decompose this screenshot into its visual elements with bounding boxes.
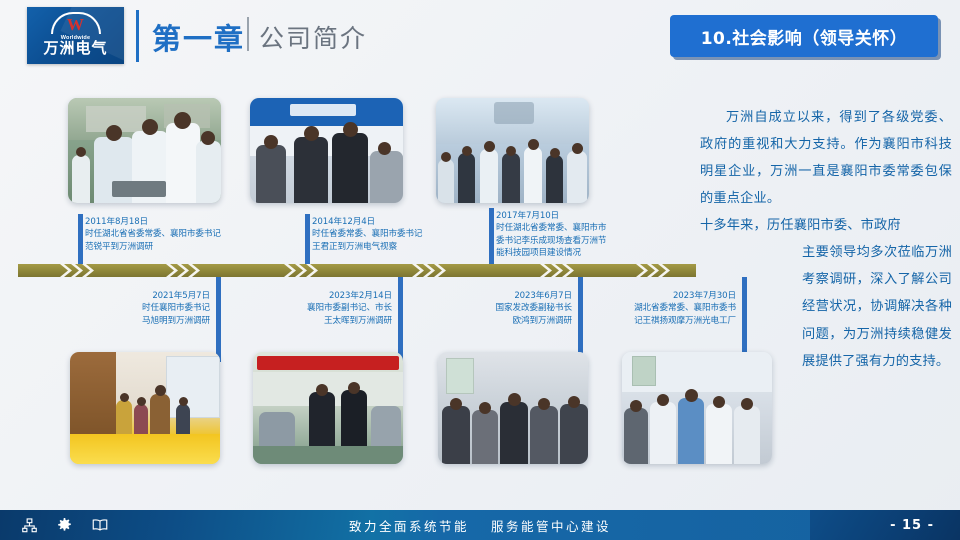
footer-slogan-right: 服务能管中心建设 xyxy=(491,516,611,535)
chapter-subtitle: 公司简介 xyxy=(259,19,367,55)
timeline-bar xyxy=(18,264,696,277)
footer-slogan: 致力全面系统节能 服务能管中心建设 xyxy=(0,510,960,540)
company-logo: Worldwide 万洲电气 xyxy=(27,7,124,64)
caption-line: 时任湖北省省委常委、襄阳市委书记 xyxy=(85,228,300,240)
caption-line: 马旭明到万洲调研 xyxy=(40,315,210,327)
topic-badge: 10.社会影响（领导关怀） xyxy=(670,15,938,57)
caption-line: 时任襄阳市委书记 xyxy=(40,302,210,314)
title-accent-bar xyxy=(136,10,139,62)
timeline-caption-bottom-1: 2021年5月7日 时任襄阳市委书记 马旭明到万洲调研 xyxy=(40,290,210,327)
chapter-separator xyxy=(247,17,249,51)
caption-date: 2023年6月7日 xyxy=(402,290,572,302)
chapter-title: 第一章 xyxy=(152,16,245,58)
slide: Worldwide 万洲电气 第一章 公司简介 10.社会影响（领导关怀） xyxy=(0,0,960,540)
caption-line: 范锐平到万洲调研 xyxy=(85,241,300,253)
photo-2021-inspection xyxy=(70,352,220,464)
caption-line: 委书记李乐成现场查看万洲节 xyxy=(496,235,668,247)
caption-date: 2014年12月4日 xyxy=(312,216,492,228)
photo-2011-inspection xyxy=(68,98,221,203)
caption-line: 国家发改委副秘书长 xyxy=(402,302,572,314)
logo-arc-icon xyxy=(51,12,101,34)
timeline-connector xyxy=(305,214,310,264)
slide-header: Worldwide 万洲电气 第一章 公司简介 10.社会影响（领导关怀） xyxy=(0,0,960,78)
timeline-caption-bottom-3: 2023年6月7日 国家发改委副秘书长 欧鸿到万洲调研 xyxy=(402,290,572,327)
footer-slogan-left: 致力全面系统节能 xyxy=(349,516,469,535)
paragraph-part-2: 十多年来，历任襄阳市委、市政府 xyxy=(700,218,901,233)
logo-chinese: 万洲电气 xyxy=(27,37,124,58)
caption-date: 2011年8月18日 xyxy=(85,216,300,228)
caption-line: 能科技园项目建设情况 xyxy=(496,247,668,259)
caption-line: 襄阳市委副书记、市长 xyxy=(222,302,392,314)
caption-line: 时任省委常委、襄阳市委书记 xyxy=(312,228,492,240)
caption-line: 王太晖到万洲调研 xyxy=(222,315,392,327)
timeline-caption-bottom-2: 2023年2月14日 襄阳市委副书记、市长 王太晖到万洲调研 xyxy=(222,290,392,327)
timeline-caption-top-3: 2017年7月10日 时任湖北省委常委、襄阳市市 委书记李乐成现场查看万洲节 能… xyxy=(496,210,668,260)
caption-date: 2023年2月14日 xyxy=(222,290,392,302)
topic-badge-label: 10.社会影响（领导关怀） xyxy=(701,24,908,49)
photo-2014-inspection xyxy=(250,98,403,203)
timeline-caption-top-2: 2014年12月4日 时任省委常委、襄阳市委书记 王君正到万洲电气视察 xyxy=(312,216,492,253)
timeline-connector xyxy=(216,277,221,362)
caption-date: 2017年7月10日 xyxy=(496,210,668,222)
description-paragraph: 万洲自成立以来，得到了各级党委、政府的重视和大力支持。作为襄阳市科技明星企业，万… xyxy=(700,104,952,375)
photo-2023-jun-inspection xyxy=(438,352,588,464)
caption-date: 2021年5月7日 xyxy=(40,290,210,302)
timeline-caption-top-1: 2011年8月18日 时任湖北省省委常委、襄阳市委书记 范锐平到万洲调研 xyxy=(85,216,300,253)
caption-line: 王君正到万洲电气视察 xyxy=(312,241,492,253)
slide-footer: 致力全面系统节能 服务能管中心建设 - 15 - xyxy=(0,510,960,540)
caption-line: 欧鸿到万洲调研 xyxy=(402,315,572,327)
photo-2017-inspection xyxy=(436,98,589,203)
photo-2023-feb-inspection xyxy=(253,352,403,464)
paragraph-part-1: 万洲自成立以来，得到了各级党委、政府的重视和大力支持。作为襄阳市科技明星企业，万… xyxy=(700,104,952,212)
timeline-connector xyxy=(78,214,83,264)
caption-line: 时任湖北省委常委、襄阳市市 xyxy=(496,222,668,234)
paragraph-part-3: 主要领导均多次莅临万洲考察调研，深入了解公司经营状况，协调解决各种问题，为万洲持… xyxy=(802,239,952,374)
page-number: - 15 - xyxy=(890,510,934,540)
